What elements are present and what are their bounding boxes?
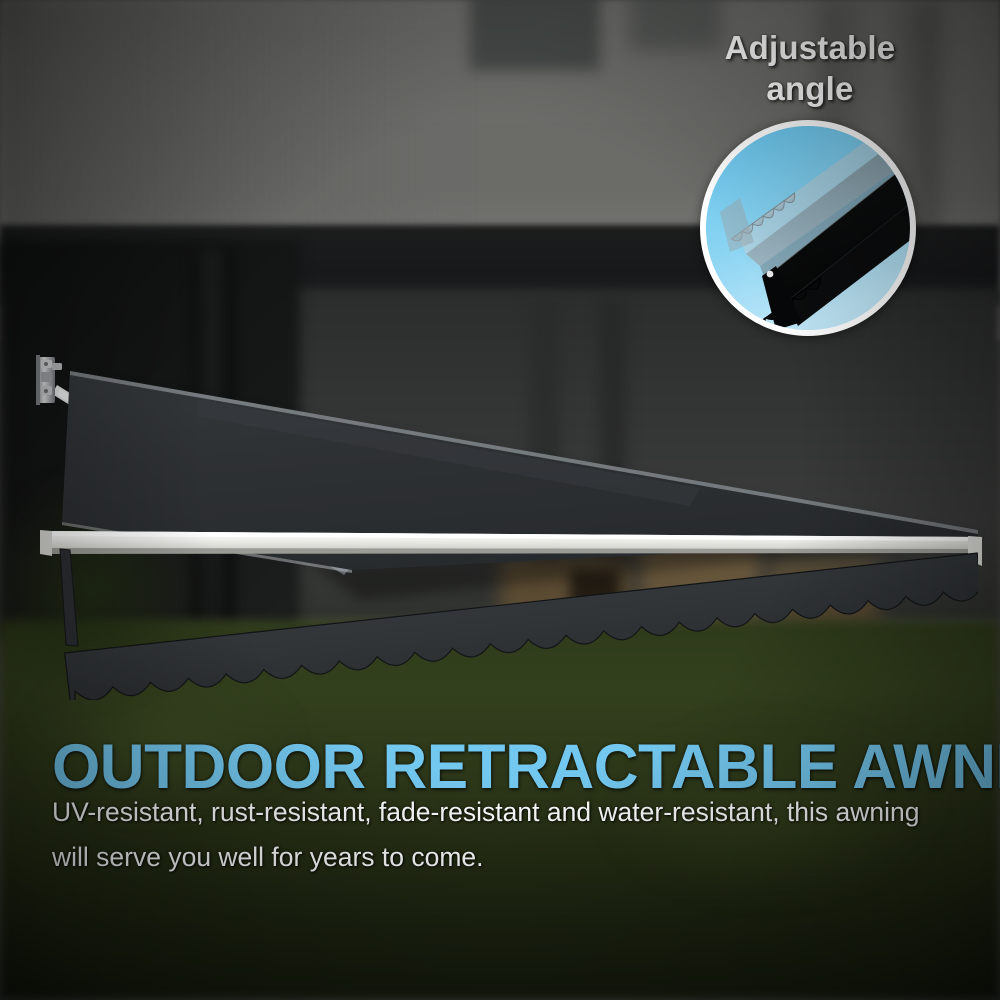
callout-title-line-1: Adjustable — [660, 28, 960, 69]
callout-circle-ring — [700, 120, 916, 336]
adjustable-angle-callout — [700, 120, 916, 336]
adjustable-angle-icon — [706, 126, 910, 330]
product-marketing-image: Adjustable angle — [0, 0, 1000, 1000]
callout-title-line-2: angle — [660, 69, 960, 110]
callout-title: Adjustable angle — [660, 28, 960, 110]
description-text: UV-resistant, rust-resistant, fade-resis… — [52, 790, 952, 879]
